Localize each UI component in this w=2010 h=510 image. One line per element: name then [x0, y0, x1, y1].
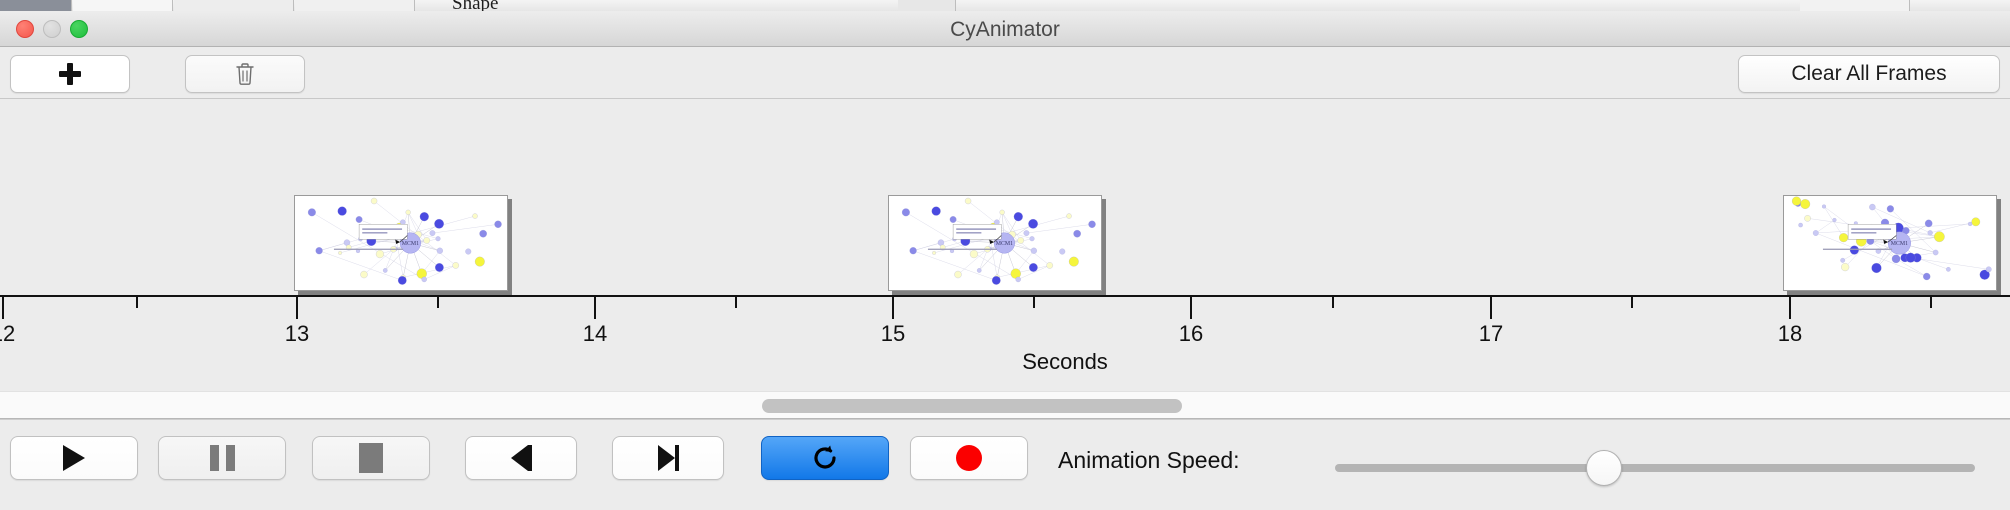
- clear-all-frames-button[interactable]: Clear All Frames: [1738, 55, 2000, 93]
- ruler-label-16: 16: [1179, 321, 1203, 347]
- frame-strip[interactable]: MCM1MCM1MCM1: [0, 99, 2010, 297]
- svg-text:MCM1: MCM1: [402, 241, 419, 247]
- add-frame-button[interactable]: [10, 55, 130, 93]
- first-frame-button[interactable]: [465, 436, 577, 480]
- timeline-frame-thumbnail[interactable]: MCM1: [888, 195, 1102, 291]
- ruler-tick-13.5: [437, 297, 439, 308]
- title-bar: CyAnimator: [0, 11, 2010, 47]
- ruler-tick-15.5: [1033, 297, 1035, 308]
- ruler-label-17: 17: [1479, 321, 1503, 347]
- timeline-scrollbar-track[interactable]: [0, 391, 2010, 419]
- ruler-tick-16: [1190, 297, 1192, 319]
- ruler-label-18: 18: [1778, 321, 1802, 347]
- delete-frame-button[interactable]: [185, 55, 305, 93]
- pause-icon: [210, 445, 235, 471]
- timeline-frame-thumbnail[interactable]: MCM1: [1783, 195, 1997, 291]
- skip-end-icon: [658, 445, 679, 471]
- loop-button[interactable]: [761, 436, 889, 480]
- svg-text:MCM1: MCM1: [996, 241, 1013, 247]
- window-title: CyAnimator: [0, 18, 2010, 42]
- ruler-tick-16.5: [1332, 297, 1334, 308]
- pause-button[interactable]: [158, 436, 286, 480]
- cyanimator-window: CyAnimator Clear All Frames MCM1MCM1MCM1…: [0, 11, 2010, 510]
- animation-speed-slider-track[interactable]: [1335, 464, 1975, 472]
- play-button[interactable]: [10, 436, 138, 480]
- playback-bar: Animation Speed:: [0, 419, 2010, 495]
- animation-speed-slider-handle[interactable]: [1586, 450, 1622, 486]
- timeline-scrollbar-thumb[interactable]: [762, 399, 1182, 413]
- timeline-frame-thumbnail[interactable]: MCM1: [294, 195, 508, 291]
- timeline-axis-title-text: Seconds: [1022, 349, 1108, 375]
- ruler-label-14: 14: [583, 321, 607, 347]
- ruler-tick-13: [296, 297, 298, 319]
- last-frame-button[interactable]: [612, 436, 724, 480]
- play-icon: [63, 445, 85, 471]
- stop-icon: [359, 443, 383, 473]
- record-icon: [956, 445, 982, 471]
- record-button[interactable]: [910, 436, 1028, 480]
- ruler-tick-15: [892, 297, 894, 319]
- ruler-tick-14: [594, 297, 596, 319]
- ruler-label-13: 13: [285, 321, 309, 347]
- skip-start-icon: [511, 445, 532, 471]
- ruler-label-15: 15: [881, 321, 905, 347]
- ruler-tick-18: [1789, 297, 1791, 319]
- timeline-ruler[interactable]: 12131415161718: [0, 297, 2010, 349]
- animation-speed-label: Animation Speed:: [1058, 447, 1240, 474]
- stop-button[interactable]: [312, 436, 430, 480]
- ruler-tick-12.5: [136, 297, 138, 308]
- timeline-axis-title: Seconds: [0, 349, 2010, 391]
- ruler-tick-17: [1490, 297, 1492, 319]
- ruler-tick-17.5: [1631, 297, 1633, 308]
- ruler-tick-12: [2, 297, 4, 319]
- ruler-tick-18.5: [1930, 297, 1932, 308]
- svg-text:MCM1: MCM1: [1891, 241, 1908, 247]
- plus-icon: [59, 63, 81, 85]
- ruler-label-12: 12: [0, 321, 15, 347]
- toolbar: Clear All Frames: [0, 47, 2010, 99]
- trash-icon: [235, 62, 255, 86]
- loop-icon: [810, 443, 840, 473]
- ruler-tick-14.5: [735, 297, 737, 308]
